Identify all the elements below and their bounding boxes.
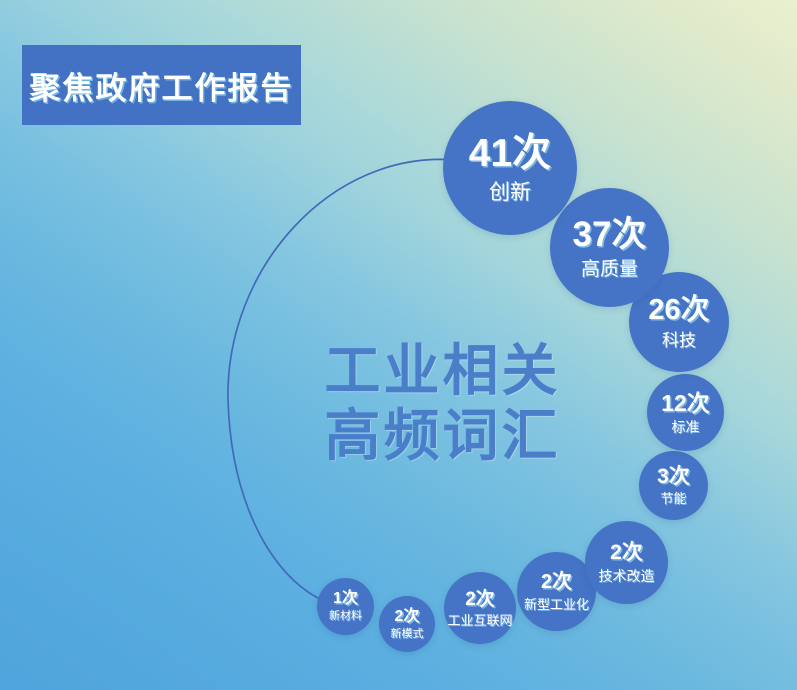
bubble-label: 节能 (660, 492, 686, 505)
bubble-新模式[interactable]: 2次新模式 (379, 596, 435, 652)
banner-title: 聚焦政府工作报告 (22, 45, 301, 125)
bubble-label: 工业互联网 (447, 614, 512, 627)
bubble-工业互联网[interactable]: 2次工业互联网 (444, 572, 516, 644)
bubble-节能[interactable]: 3次节能 (639, 451, 708, 520)
bubble-count: 2次 (541, 572, 572, 592)
bubble-label: 新模式 (391, 629, 424, 640)
bubble-标准[interactable]: 12次标准 (647, 374, 724, 451)
bubble-count: 2次 (465, 590, 495, 609)
bubble-count: 2次 (395, 609, 420, 625)
bubble-高质量[interactable]: 37次高质量 (550, 188, 669, 307)
bubble-label: 标准 (672, 420, 700, 434)
bubble-count: 3次 (657, 466, 690, 487)
bubble-count: 26次 (648, 296, 709, 325)
page-title-line-1: 工业相关 (310, 339, 575, 404)
bubble-label: 新型工业化 (524, 598, 589, 611)
bubble-新材料[interactable]: 1次新材料 (317, 578, 374, 635)
bubble-count: 2次 (610, 542, 643, 563)
bubble-label: 高质量 (581, 260, 638, 279)
bubble-创新[interactable]: 41次创新 (443, 101, 577, 235)
bubble-count: 41次 (469, 134, 551, 173)
bubble-label: 技术改造 (599, 569, 655, 583)
bubble-count: 12次 (661, 392, 710, 415)
page-title: 工业相关 高频词汇 (310, 339, 575, 469)
bubble-count: 37次 (573, 217, 647, 252)
bubble-label: 创新 (489, 182, 531, 203)
bubble-label: 新材料 (329, 611, 362, 622)
bubble-label: 科技 (662, 332, 696, 349)
page-title-line-2: 高频词汇 (310, 404, 575, 469)
bubble-count: 1次 (333, 591, 358, 607)
bubble-技术改造[interactable]: 2次技术改造 (585, 521, 668, 604)
infographic-poster: 聚焦政府工作报告 工业相关 高频词汇 41次创新37次高质量26次科技12次标准… (0, 0, 797, 690)
header-banner: 聚焦政府工作报告 (22, 45, 301, 125)
